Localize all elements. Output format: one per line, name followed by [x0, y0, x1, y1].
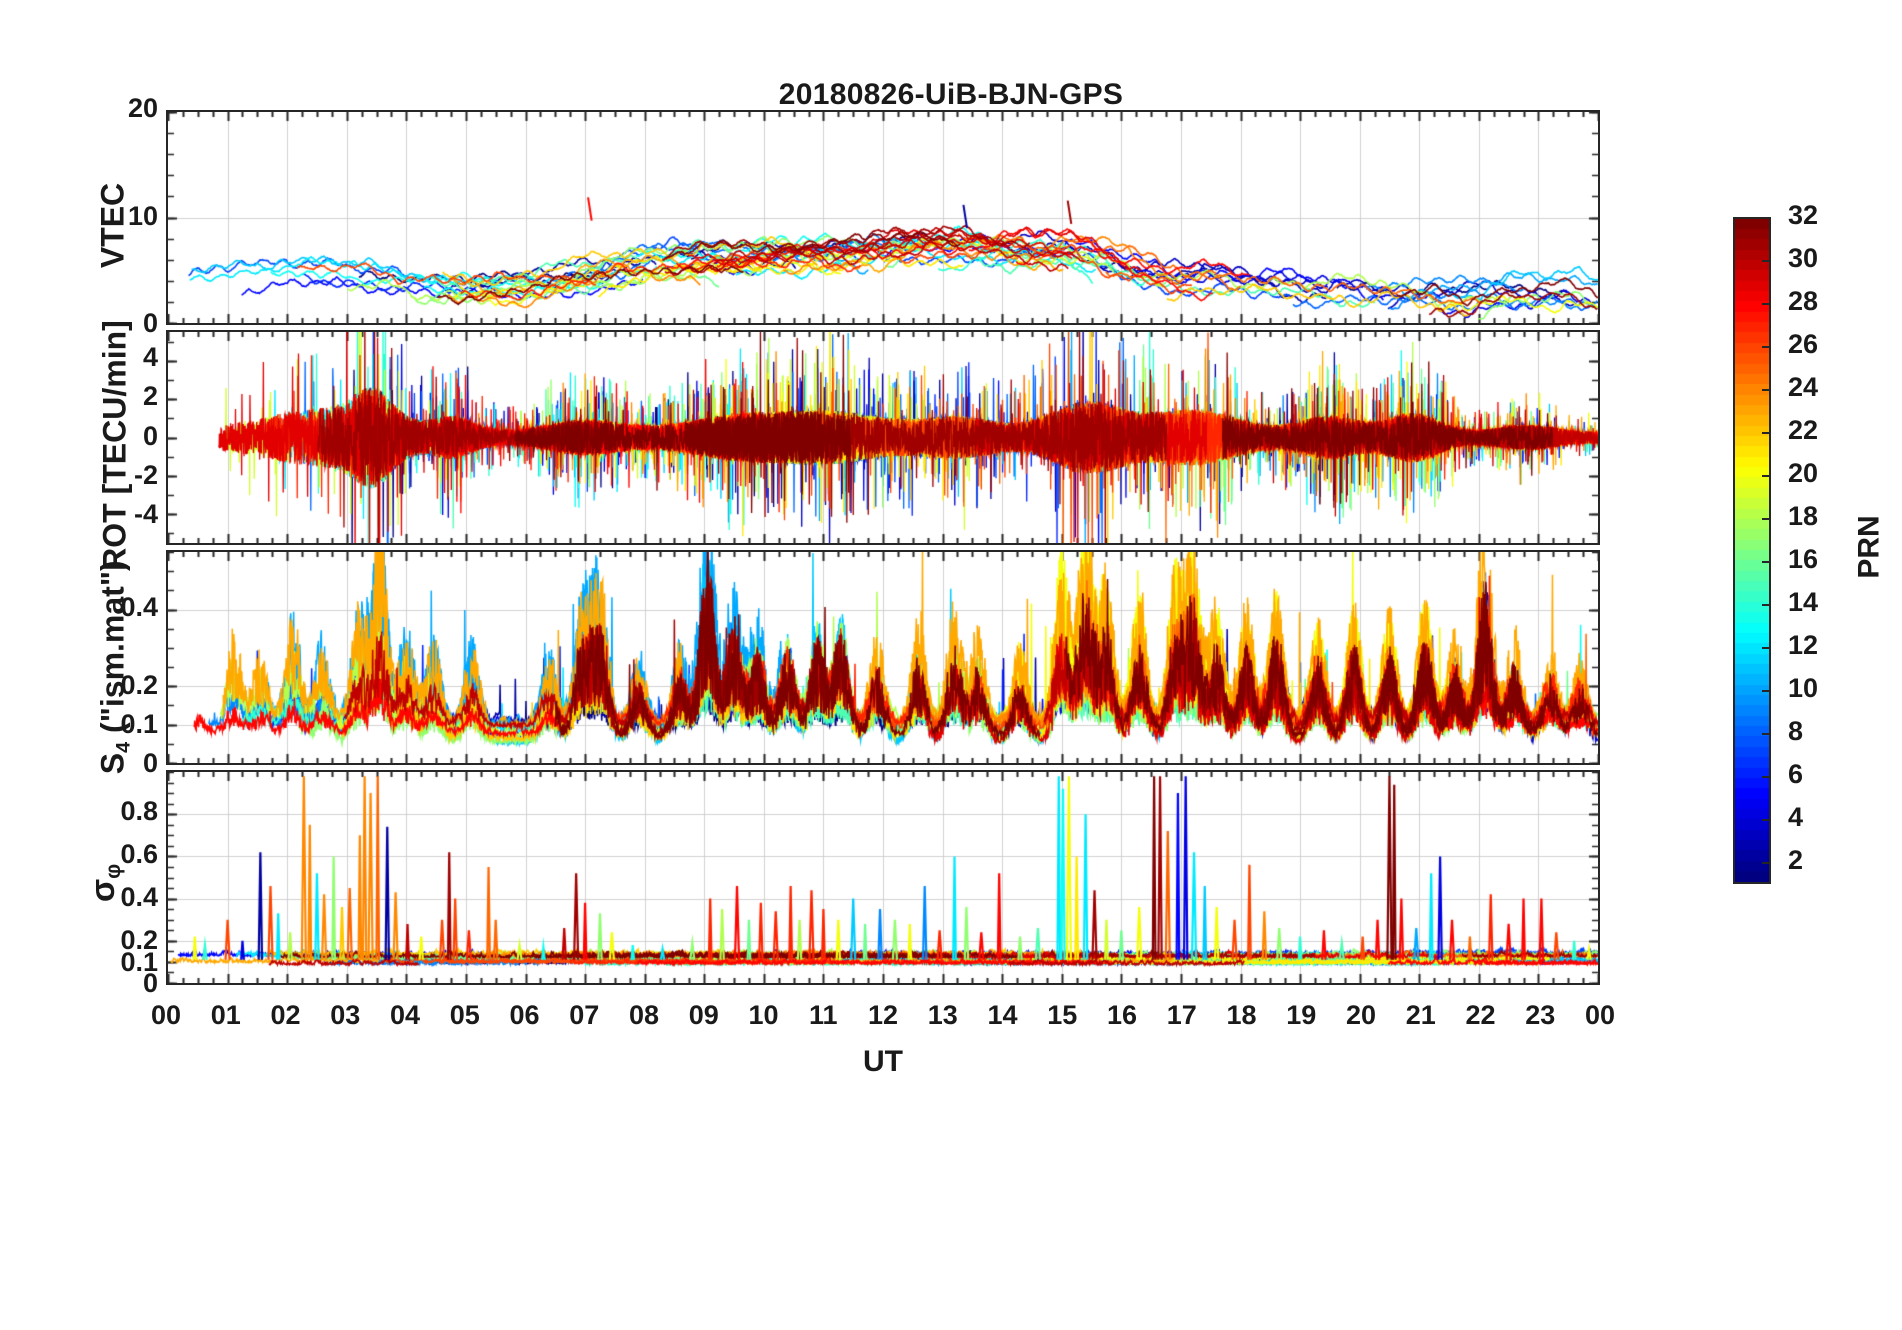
colorbar-tickmark-1	[1762, 260, 1771, 262]
xtick-24: 00	[1560, 1000, 1640, 1031]
panel-sigma-phi	[166, 770, 1600, 985]
colorbar-tick-2: 28	[1788, 286, 1818, 317]
colorbar-tickmark-9	[1762, 604, 1771, 606]
colorbar-tick-3: 26	[1788, 329, 1818, 360]
colorbar-tickmark-2	[1762, 303, 1771, 305]
colorbar-label: PRN	[1853, 515, 1887, 578]
ytick-sigma-phi-3: 0.4	[40, 882, 158, 913]
colorbar-tickmark-5	[1762, 432, 1771, 434]
ytick-s4-0: 0	[40, 748, 158, 779]
colorbar-tickmark-13	[1762, 776, 1771, 778]
colorbar-tick-6: 20	[1788, 458, 1818, 489]
colorbar-tickmark-11	[1762, 690, 1771, 692]
ytick-s4-2: 0.2	[40, 670, 158, 701]
ytick-vtec-1: 10	[40, 201, 158, 232]
panel-rot	[166, 330, 1600, 545]
colorbar-tickmark-12	[1762, 733, 1771, 735]
colorbar-tickmark-6	[1762, 475, 1771, 477]
colorbar-tick-9: 14	[1788, 587, 1818, 618]
colorbar-tick-0: 32	[1788, 200, 1818, 231]
colorbar-tick-14: 4	[1788, 802, 1803, 833]
ytick-sigma-phi-2: 0.2	[40, 925, 158, 956]
colorbar-tickmark-0	[1762, 217, 1771, 219]
colorbar-tick-4: 24	[1788, 372, 1818, 403]
colorbar-tick-8: 16	[1788, 544, 1818, 575]
ytick-rot-3: 2	[40, 381, 158, 412]
colorbar-tickmark-3	[1762, 346, 1771, 348]
colorbar-tick-11: 10	[1788, 673, 1818, 704]
ytick-s4-3: 0.4	[40, 592, 158, 623]
colorbar-tick-15: 2	[1788, 845, 1803, 876]
colorbar-tickmark-7	[1762, 518, 1771, 520]
ytick-rot-1: -2	[40, 460, 158, 491]
colorbar-tick-7: 18	[1788, 501, 1818, 532]
ytick-s4-1: 0.1	[40, 709, 158, 740]
colorbar-tick-5: 22	[1788, 415, 1818, 446]
colorbar-tick-10: 12	[1788, 630, 1818, 661]
colorbar-tickmark-4	[1762, 389, 1771, 391]
colorbar-tick-1: 30	[1788, 243, 1818, 274]
axis-label-ut: UT	[823, 1045, 943, 1079]
colorbar-tick-12: 8	[1788, 716, 1803, 747]
ytick-rot-2: 0	[40, 421, 158, 452]
colorbar-tickmark-10	[1762, 647, 1771, 649]
colorbar-tick-13: 6	[1788, 759, 1803, 790]
colorbar-tickmark-15	[1762, 862, 1771, 864]
ytick-rot-0: -4	[40, 499, 158, 530]
ytick-sigma-phi-5: 0.8	[40, 796, 158, 827]
page-title: 20180826-UiB-BJN-GPS	[0, 78, 1902, 112]
panel-s4	[166, 550, 1600, 765]
colorbar-tickmark-8	[1762, 561, 1771, 563]
ytick-vtec-0: 0	[40, 308, 158, 339]
ytick-vtec-2: 20	[40, 93, 158, 124]
ytick-rot-4: 4	[40, 342, 158, 373]
colorbar-prn	[1733, 217, 1771, 884]
colorbar-tickmark-14	[1762, 819, 1771, 821]
panel-vtec	[166, 110, 1600, 325]
ytick-sigma-phi-4: 0.6	[40, 839, 158, 870]
